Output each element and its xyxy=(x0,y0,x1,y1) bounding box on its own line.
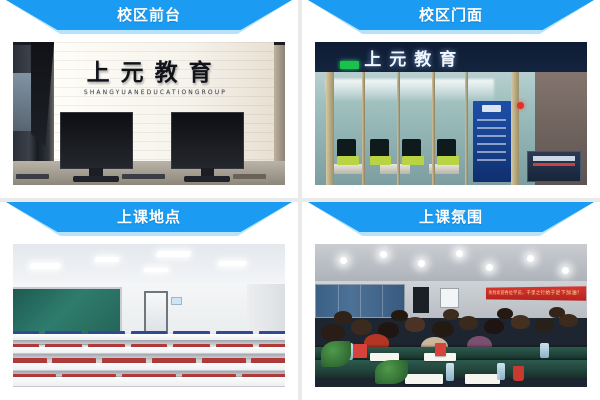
interior-desk xyxy=(380,164,410,174)
ceiling-light xyxy=(94,257,120,262)
chair-seat-green xyxy=(370,156,392,165)
keyboard-center xyxy=(122,174,165,180)
ceiling-light xyxy=(143,268,168,272)
banner-atmosphere: 上课氛围 xyxy=(302,202,600,242)
desk-row-4 xyxy=(13,334,284,344)
banner-title-classroom: 上课地点 xyxy=(117,210,181,225)
card-reception[interactable]: 校区前台 上元教育 SHANGYUANEDUCATIONGROUP xyxy=(0,0,298,198)
photo-scene-atmosphere: 热烈欢迎各位学员，千里之行始于足下加油！ xyxy=(315,244,586,387)
reception-counter-right xyxy=(527,151,581,182)
chair-seat-green xyxy=(402,156,424,165)
wall-logo-english: SHANGYUANEDUCATIONGROUP xyxy=(84,89,227,96)
card-atmosphere[interactable]: 上课氛围 热烈欢迎各位学员，千里之行始于足下加油！ xyxy=(302,202,600,400)
monitor-right xyxy=(171,112,244,169)
whiteboard-small xyxy=(440,288,459,308)
ceiling-light xyxy=(156,251,190,257)
counter-sign-red xyxy=(533,163,575,166)
banner-title-atmosphere: 上课氛围 xyxy=(419,210,483,225)
banner-title-reception: 校区前台 xyxy=(117,8,181,23)
table-plant xyxy=(321,341,351,367)
red-wall-banner: 热烈欢迎各位学员，千里之行始于足下加油！ xyxy=(486,286,587,300)
dark-ceiling-panel xyxy=(31,42,54,146)
monitor-base-right xyxy=(184,176,230,182)
interior-light-glow xyxy=(326,79,494,102)
card-classroom[interactable]: 上课地点 xyxy=(0,202,298,400)
banner-classroom: 上课地点 xyxy=(0,202,298,242)
chair-seat-green xyxy=(437,156,459,165)
photo-scene-storefront: 上元教育 xyxy=(315,42,586,185)
desk-object-right xyxy=(233,174,266,180)
classroom-in-session-photo[interactable]: 热烈欢迎各位学员，千里之行始于足下加油！ xyxy=(315,244,586,387)
notebook-page xyxy=(465,374,500,384)
red-wall-banner-text: 热烈欢迎各位学员，千里之行始于足下加油！ xyxy=(488,290,582,297)
downlight xyxy=(340,257,347,264)
water-bottle xyxy=(446,363,454,382)
red-folder xyxy=(435,343,446,356)
classroom-empty-photo[interactable]: 空教室，绿色黑板、白色长条课桌与红蓝座椅 xyxy=(13,244,284,387)
reception-floor xyxy=(13,161,284,185)
ceiling-light xyxy=(29,263,60,269)
window-mullion xyxy=(397,72,400,185)
rollup-banner-stand xyxy=(473,101,511,183)
exit-sign-icon xyxy=(340,61,359,70)
card-storefront[interactable]: 校区门面 xyxy=(302,0,600,198)
banner-reception: 校区前台 xyxy=(0,0,298,40)
lecture-hall-ceiling xyxy=(315,244,586,281)
notebook-page xyxy=(405,374,443,384)
window-mullion xyxy=(465,72,468,185)
banner-storefront: 校区门面 xyxy=(302,0,600,40)
campus-photo-grid: 校区前台 上元教育 SHANGYUANEDUCATIONGROUP xyxy=(0,0,600,400)
monitor-base-left xyxy=(73,176,119,182)
red-folder xyxy=(353,344,367,358)
table-plant xyxy=(375,360,408,384)
chair-seat-green xyxy=(337,156,359,165)
water-bottle xyxy=(540,343,548,359)
wall-notice-board xyxy=(171,297,182,306)
water-bottle xyxy=(497,363,505,380)
campus-storefront-photo[interactable]: 上元教育 深蓝色招牌玻璃门面，绿色座椅与蓝色易拉宝展架 xyxy=(315,42,586,185)
photo-scene-reception: 上元教育 SHANGYUANEDUCATIONGROUP xyxy=(13,42,284,185)
rollup-logo-badge xyxy=(482,105,501,112)
door-frame-pillar xyxy=(326,72,334,185)
window-glare xyxy=(13,73,32,130)
desk-row-1 xyxy=(13,377,284,387)
wall-logo-chinese: 上元教育 xyxy=(87,53,223,87)
drink-cup xyxy=(513,366,524,382)
monitor-left xyxy=(60,112,133,169)
ceiling-light xyxy=(219,261,247,266)
photo-scene-classroom xyxy=(13,244,284,387)
downlight xyxy=(562,267,569,274)
window-mullion xyxy=(432,72,435,185)
desk-row-3 xyxy=(13,347,284,358)
campus-reception-desk-photo[interactable]: 上元教育 SHANGYUANEDUCATIONGROUP 白色木纹墙面前台，两台… xyxy=(13,42,284,185)
counter-sign-white xyxy=(533,156,575,161)
storefront-sign-text: 上元教育 xyxy=(364,45,464,70)
door-frame-pillar xyxy=(511,72,519,185)
interior-desk xyxy=(332,164,362,174)
banner-title-storefront: 校区门面 xyxy=(419,8,483,23)
keyboard-far-left xyxy=(16,174,49,180)
window-mullion xyxy=(362,72,365,185)
